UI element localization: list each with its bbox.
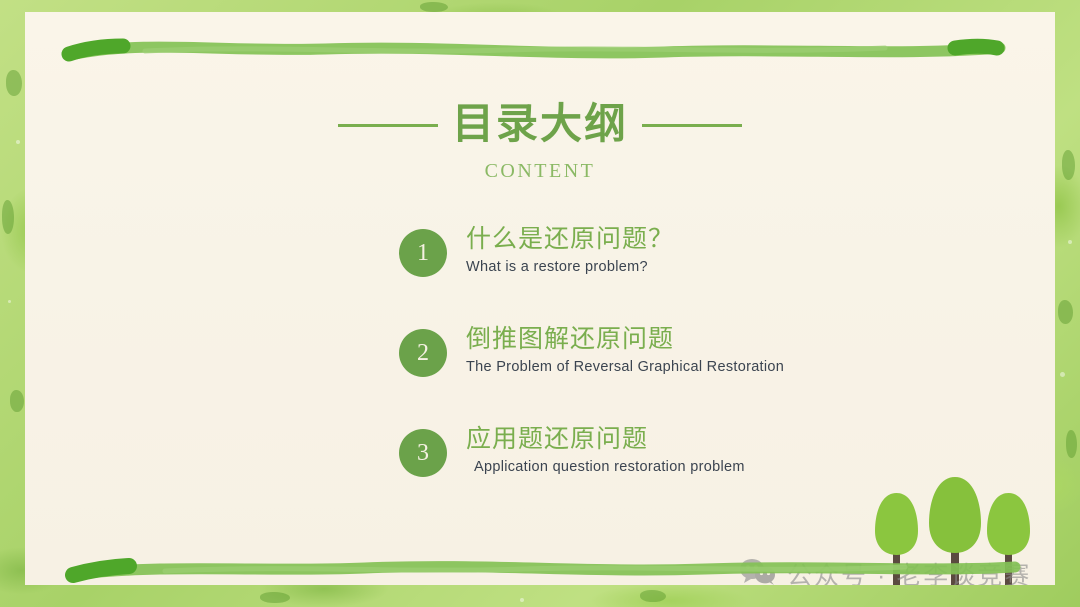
contents-list: 1 什么是还原问题？ What is a restore problem? 2 … [373, 217, 993, 517]
item-text-group: 应用题还原问题 Application question restoration… [466, 423, 745, 475]
page-title-row: 目录大纲 [25, 104, 1055, 146]
item-text-group: 什么是还原问题？ What is a restore problem? [466, 223, 674, 275]
item-text-group: 倒推图解还原问题 The Problem of Reversal Graphic… [466, 323, 784, 375]
page-title: 目录大纲 [452, 104, 628, 146]
contents-item-2[interactable]: 2 倒推图解还原问题 The Problem of Reversal Graph… [373, 317, 993, 417]
item-title-en: Application question restoration problem [474, 459, 745, 475]
page-subtitle: CONTENT [25, 160, 1055, 183]
slide-canvas: 目录大纲 CONTENT 1 什么是还原问题？ What is a restor… [0, 0, 1080, 607]
slide-page: 目录大纲 CONTENT 1 什么是还原问题？ What is a restor… [25, 12, 1055, 585]
title-rule-left [338, 124, 438, 127]
brush-stroke-top [25, 32, 1055, 66]
item-number-badge: 3 [399, 429, 447, 477]
title-rule-right [642, 124, 742, 127]
item-title-cn: 什么是还原问题？ [466, 223, 674, 256]
item-number-badge: 2 [399, 329, 447, 377]
item-title-cn: 倒推图解还原问题 [466, 323, 784, 356]
item-title-en: What is a restore problem? [466, 259, 674, 275]
brush-stroke-bottom [25, 550, 1055, 584]
contents-item-1[interactable]: 1 什么是还原问题？ What is a restore problem? [373, 217, 993, 317]
item-number-badge: 1 [399, 229, 447, 277]
item-title-cn: 应用题还原问题 [466, 423, 745, 456]
item-title-en: The Problem of Reversal Graphical Restor… [466, 359, 784, 375]
